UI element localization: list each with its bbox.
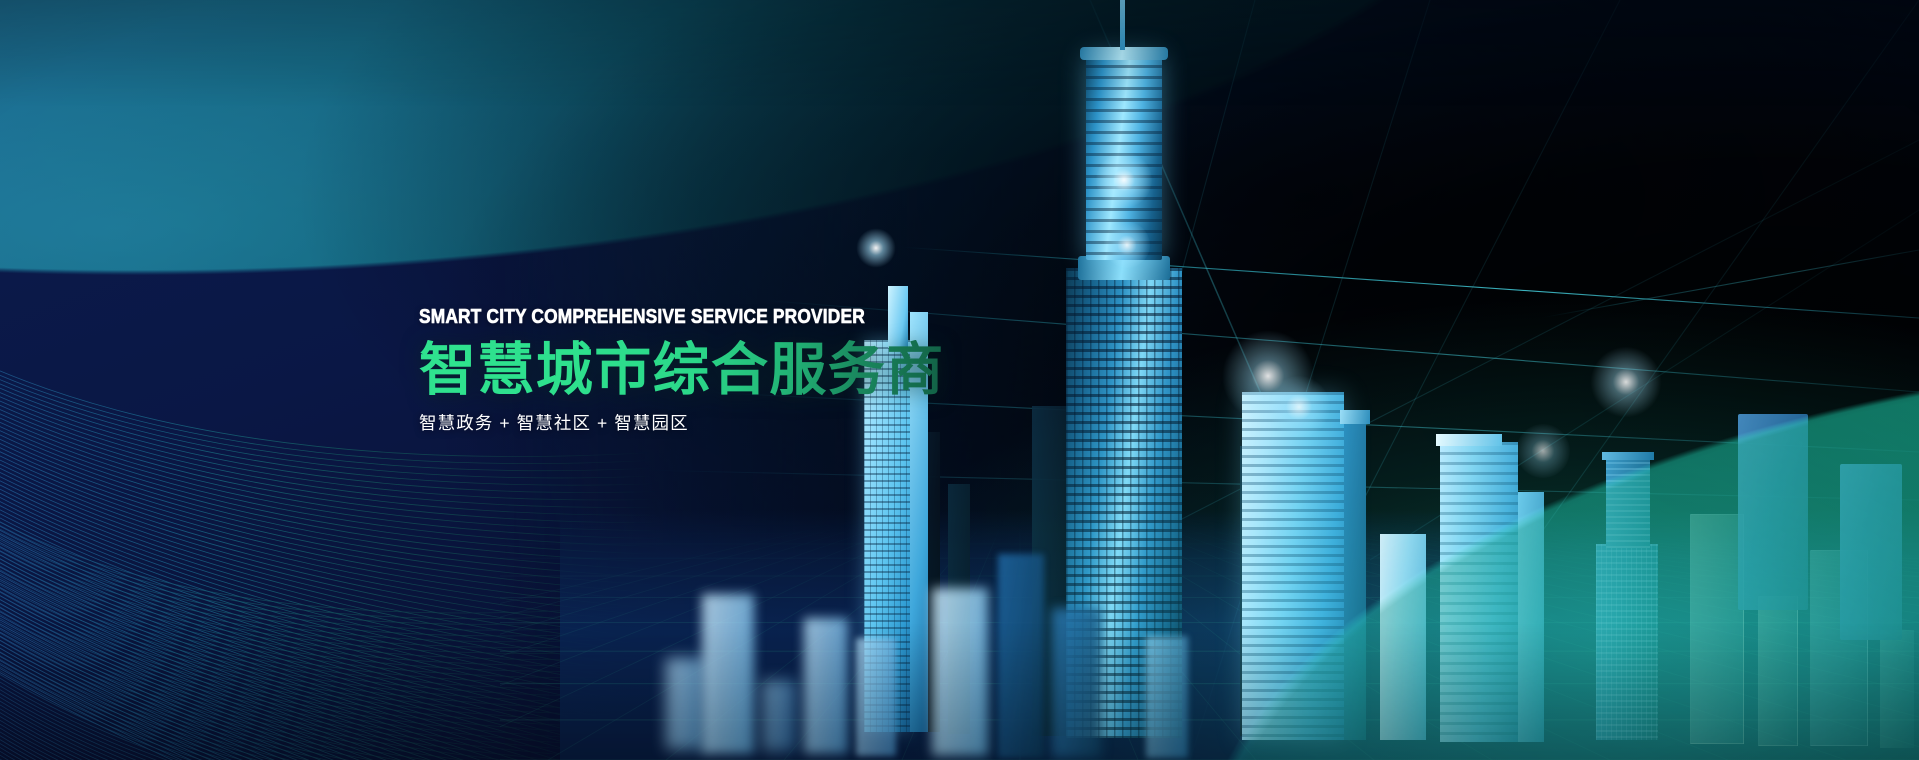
hero-headline: 智慧城市综合服务商	[419, 340, 947, 402]
city-skyline-graphic	[680, 140, 1919, 760]
hero-subline: 智慧政务 + 智慧社区 + 智慧园区	[419, 415, 947, 433]
hero-copy-block: SMART CITY COMPREHENSIVE SERVICE PROVIDE…	[419, 307, 947, 433]
hero-eyebrow-text: SMART CITY COMPREHENSIVE SERVICE PROVIDE…	[419, 307, 865, 328]
hero-banner: SMART CITY COMPREHENSIVE SERVICE PROVIDE…	[0, 0, 1919, 760]
